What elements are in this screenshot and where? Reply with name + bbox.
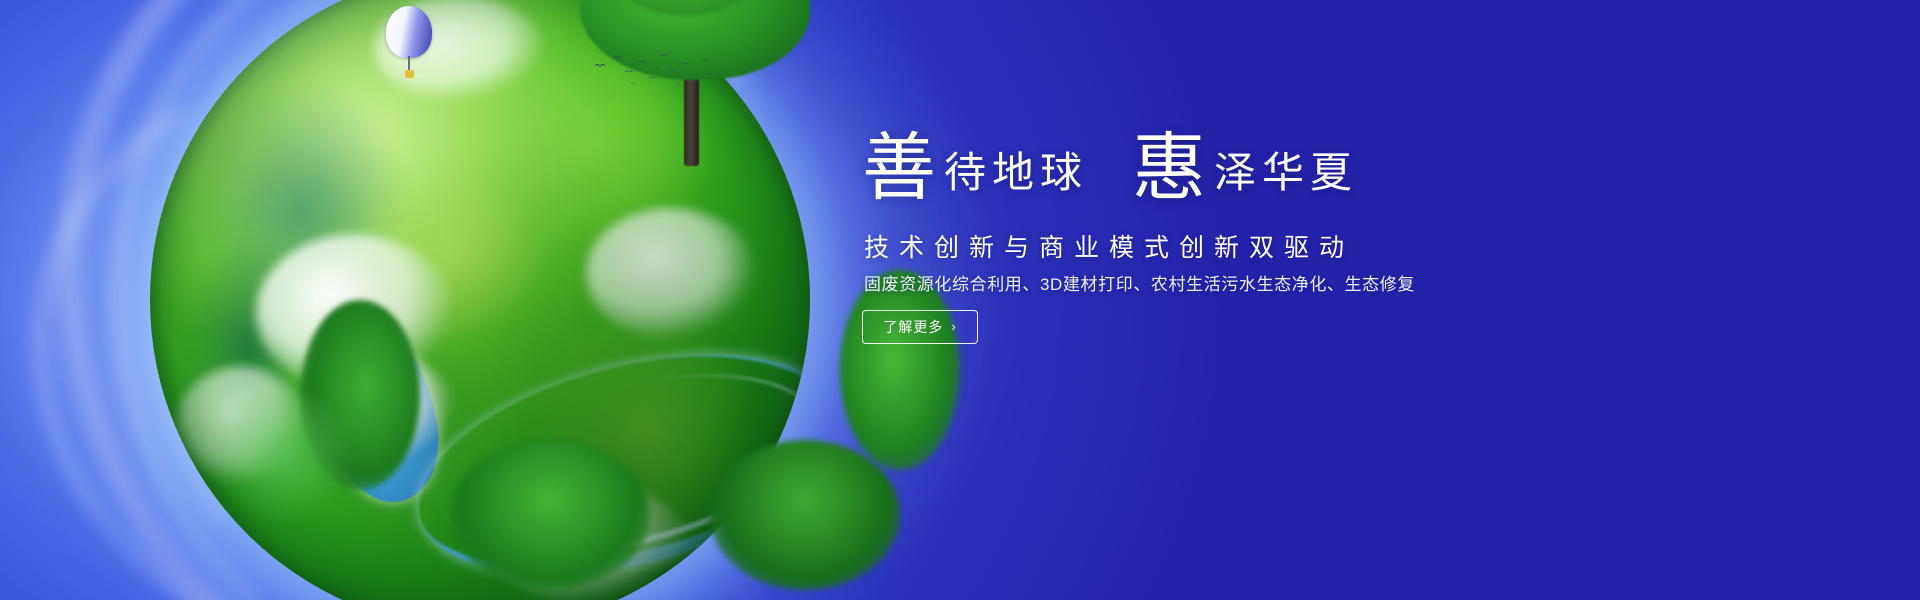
balloon-envelope bbox=[386, 6, 432, 58]
surface-cloud bbox=[586, 208, 758, 340]
headline-part1-big: 善 bbox=[862, 128, 938, 210]
side-tree bbox=[450, 440, 650, 590]
headline-part2-big: 惠 bbox=[1132, 128, 1208, 210]
hero-banner: 善待地球惠泽华夏 技术创新与商业模式创新双驱动 固废资源化综合利用、3D建材打印… bbox=[0, 0, 1920, 600]
learn-more-button[interactable]: 了解更多 › bbox=[862, 310, 978, 344]
hero-copy: 善待地球惠泽华夏 技术创新与商业模式创新双驱动 固废资源化综合利用、3D建材打印… bbox=[862, 0, 1762, 600]
subtitle: 技术创新与商业模式创新双驱动 bbox=[864, 228, 1354, 264]
headline: 善待地球惠泽华夏 bbox=[862, 132, 1358, 206]
balloon-basket bbox=[405, 70, 414, 78]
chevron-right-icon: › bbox=[951, 319, 956, 334]
hot-air-balloon-icon bbox=[386, 6, 432, 80]
foliage-patch bbox=[190, 76, 414, 340]
headline-part2-small: 泽华夏 bbox=[1214, 151, 1358, 197]
side-tree bbox=[210, 390, 360, 530]
description: 固废资源化综合利用、3D建材打印、农村生活污水生态净化、生态修复 bbox=[864, 270, 1415, 295]
learn-more-label: 了解更多 bbox=[883, 317, 943, 337]
headline-part1-small: 待地球 bbox=[944, 151, 1088, 197]
bird-flock-icon bbox=[590, 52, 720, 92]
